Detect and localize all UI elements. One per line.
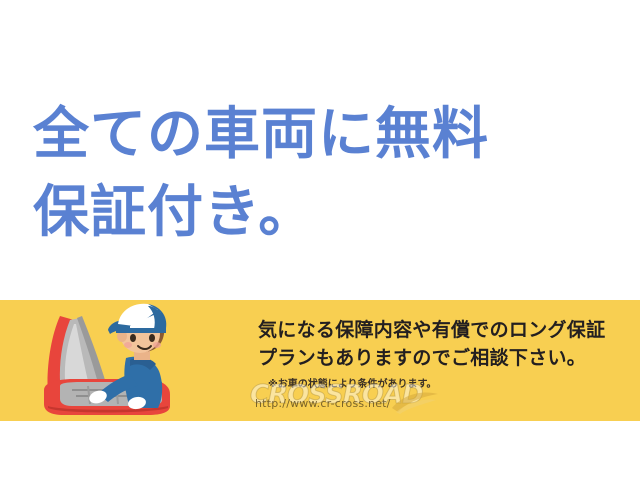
headline-block: 全ての車両に無料 保証付き。 (33, 96, 613, 252)
band-copy-block: 気になる保障内容や有償でのロング保証 プランもありますのでご相談下さい。 (258, 316, 638, 372)
band-copy-line-1: 気になる保障内容や有償でのロング保証 (258, 316, 638, 344)
headline-line-1: 全ての車両に無料 (33, 96, 613, 174)
headline-line-2: 保証付き。 (33, 174, 613, 252)
promotional-banner: 全ての車両に無料 保証付き。 (0, 0, 640, 480)
band-copy-line-2: プランもありますのでご相談下さい。 (258, 344, 638, 372)
disclaimer-note: ※お車の状態により条件があります。 (268, 378, 437, 392)
mechanic-car-illustration (30, 302, 190, 420)
